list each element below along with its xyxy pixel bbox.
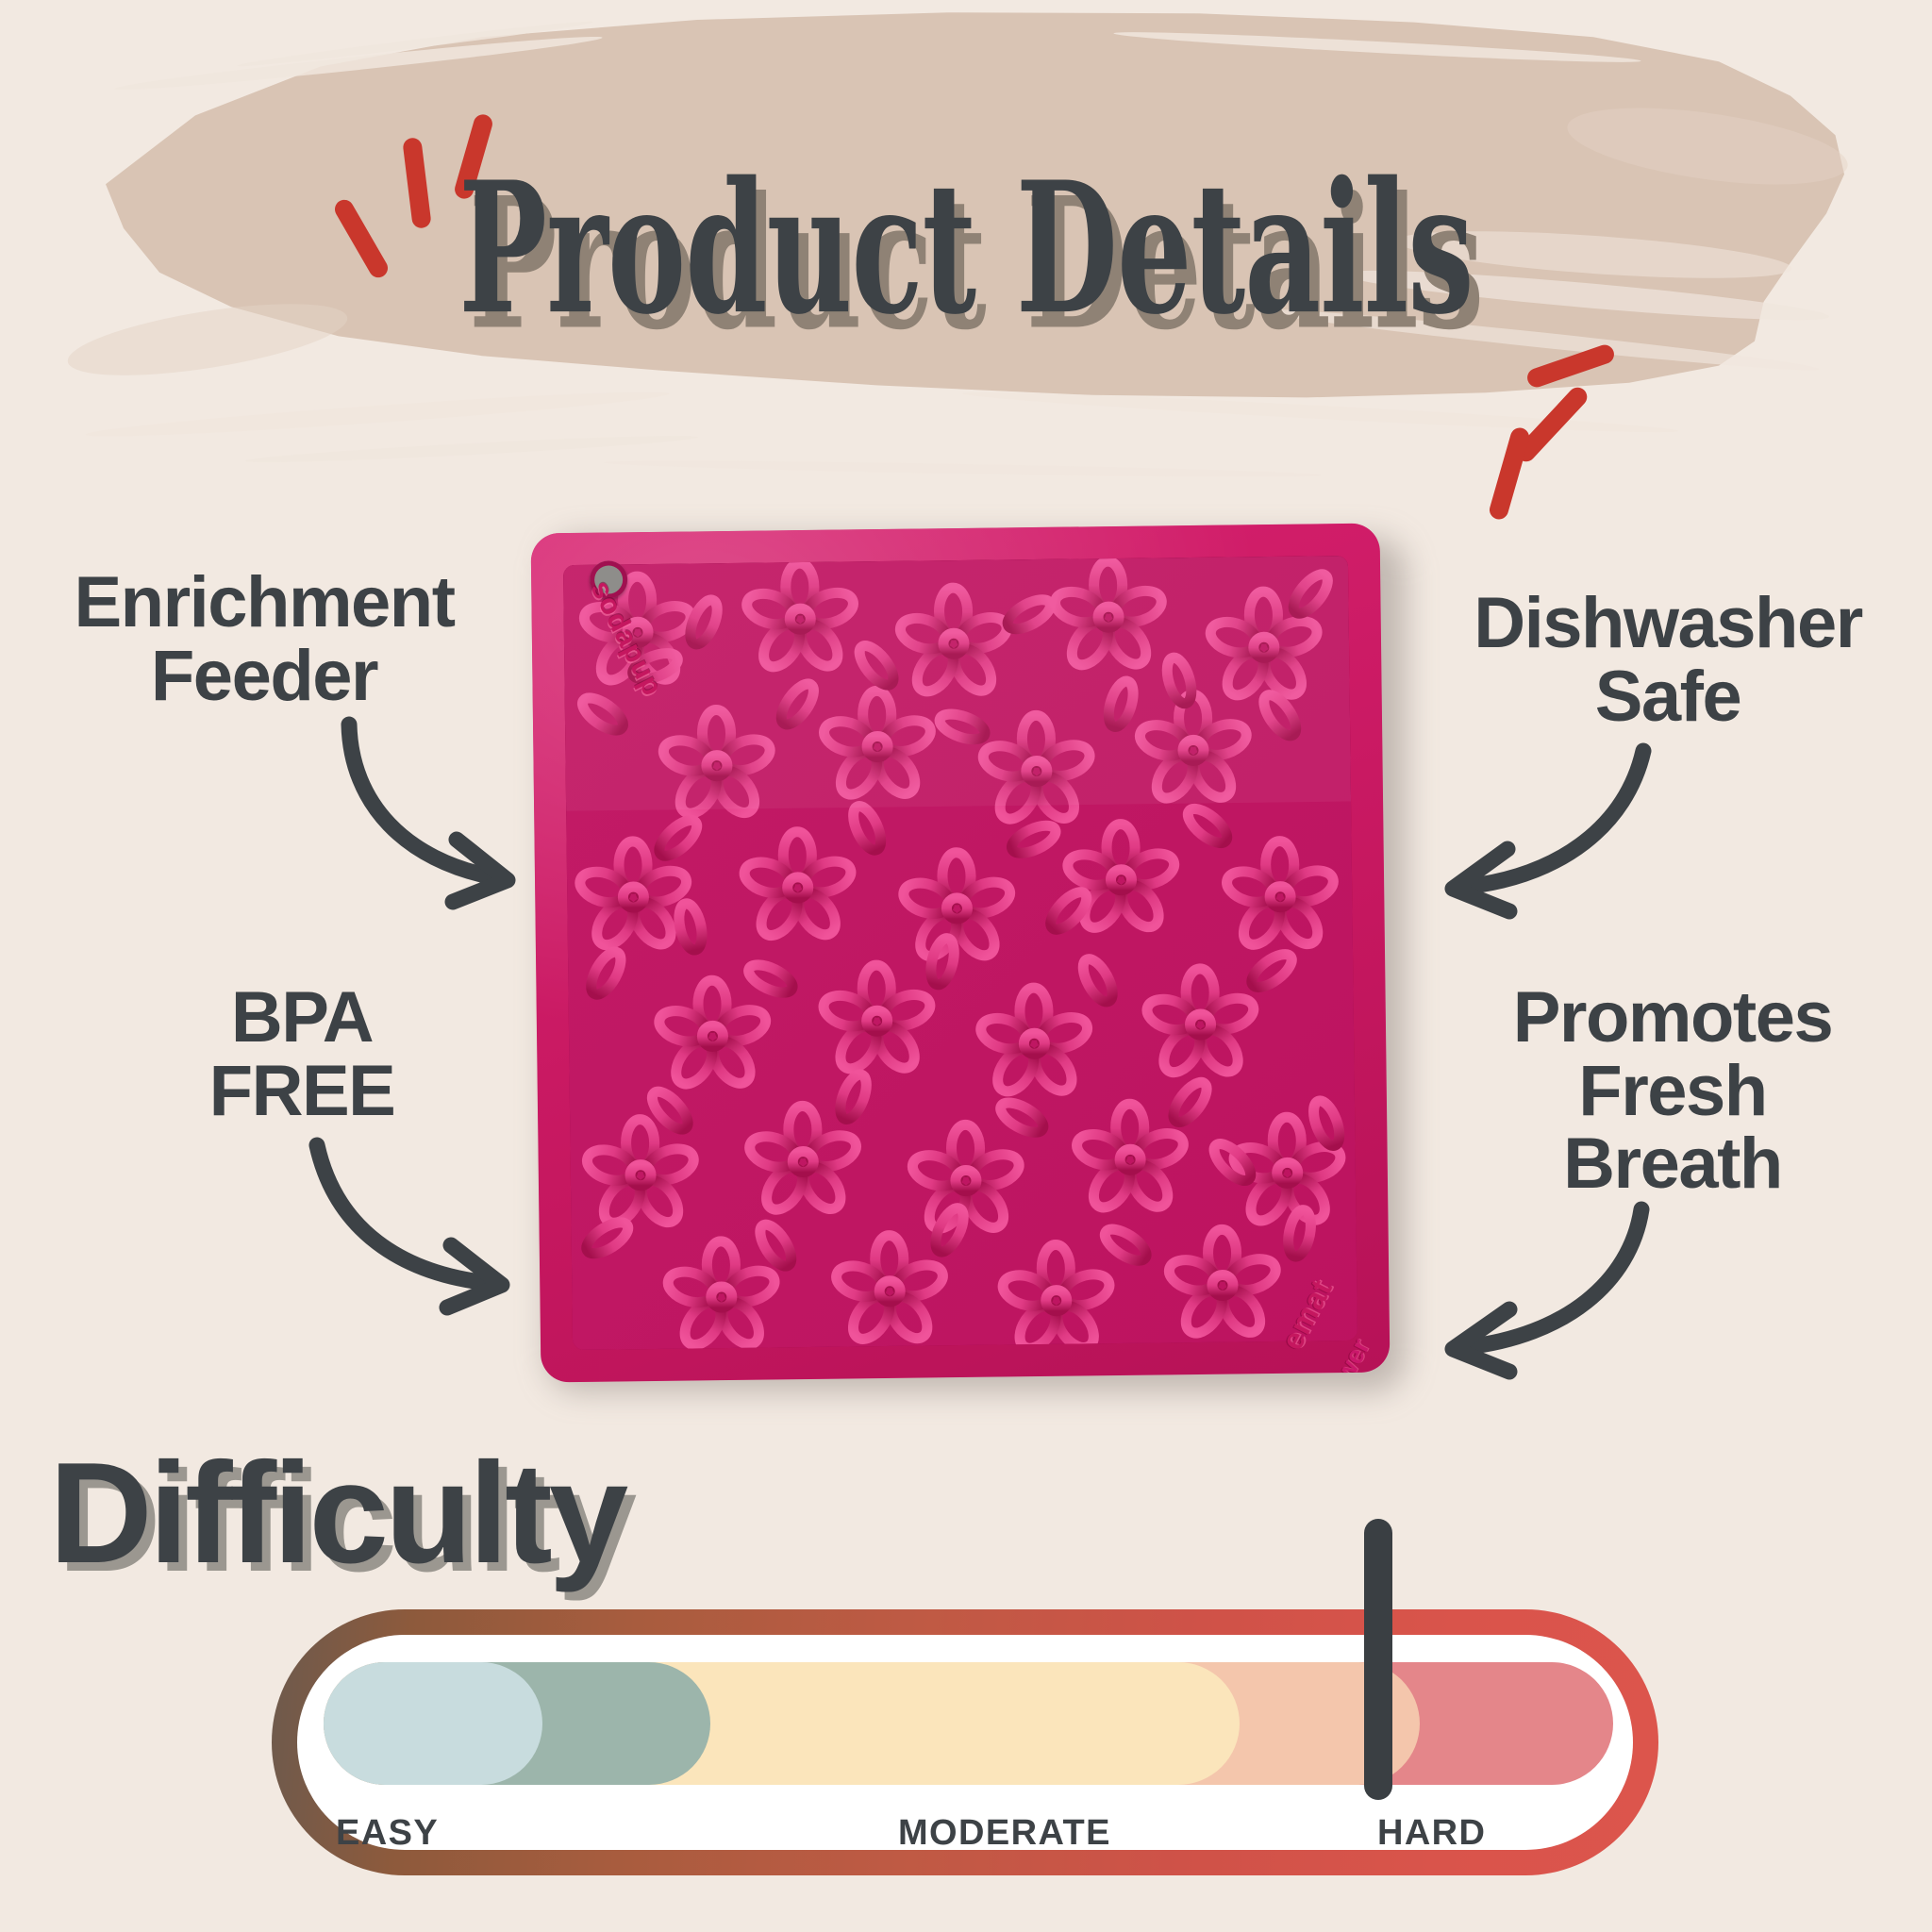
- meter-segments: [324, 1662, 1613, 1785]
- feature-line: Fresh: [1432, 1055, 1913, 1128]
- meter-segment-easy: [324, 1662, 542, 1785]
- difficulty-heading: Difficulty: [49, 1441, 625, 1585]
- accent-dash: [1488, 425, 1532, 522]
- mat-texture-surface: [563, 556, 1357, 1350]
- meter-tick-moderate: MODERATE: [898, 1813, 1111, 1854]
- arrow-dishwasher-safe: [1406, 738, 1660, 917]
- meter-tick-easy: EASY: [336, 1813, 439, 1854]
- feature-label-enrichment-feeder: Enrichment Feeder: [19, 566, 509, 712]
- arrow-bpa-free: [304, 1132, 549, 1321]
- flower-pattern-icon: [563, 556, 1357, 1350]
- arrow-enrichment-feeder: [332, 717, 558, 924]
- product-image-licking-mat: sodapup emat flower: [531, 524, 1391, 1383]
- feature-line: FREE: [123, 1055, 481, 1128]
- feature-line: Enrichment: [19, 566, 509, 640]
- product-details-infographic: Product Details: [0, 0, 1932, 1932]
- feature-line: Breath: [1432, 1127, 1913, 1201]
- feature-label-promotes-fresh-breath: Promotes Fresh Breath: [1432, 981, 1913, 1201]
- arrow-promotes-fresh-breath: [1406, 1200, 1660, 1379]
- feature-line: Dishwasher: [1423, 587, 1913, 660]
- feature-label-bpa-free: BPA FREE: [123, 981, 481, 1127]
- feature-line: Feeder: [19, 640, 509, 713]
- meter-tick-hard: HARD: [1377, 1813, 1486, 1854]
- difficulty-indicator-handle[interactable]: [1364, 1519, 1392, 1800]
- difficulty-meter[interactable]: EASY MODERATE HARD: [272, 1609, 1658, 1875]
- feature-line: Safe: [1423, 660, 1913, 734]
- feature-line: Promotes: [1432, 981, 1913, 1055]
- feature-line: BPA: [123, 981, 481, 1055]
- page-title: Product Details: [174, 142, 1757, 355]
- feature-label-dishwasher-safe: Dishwasher Safe: [1423, 587, 1913, 733]
